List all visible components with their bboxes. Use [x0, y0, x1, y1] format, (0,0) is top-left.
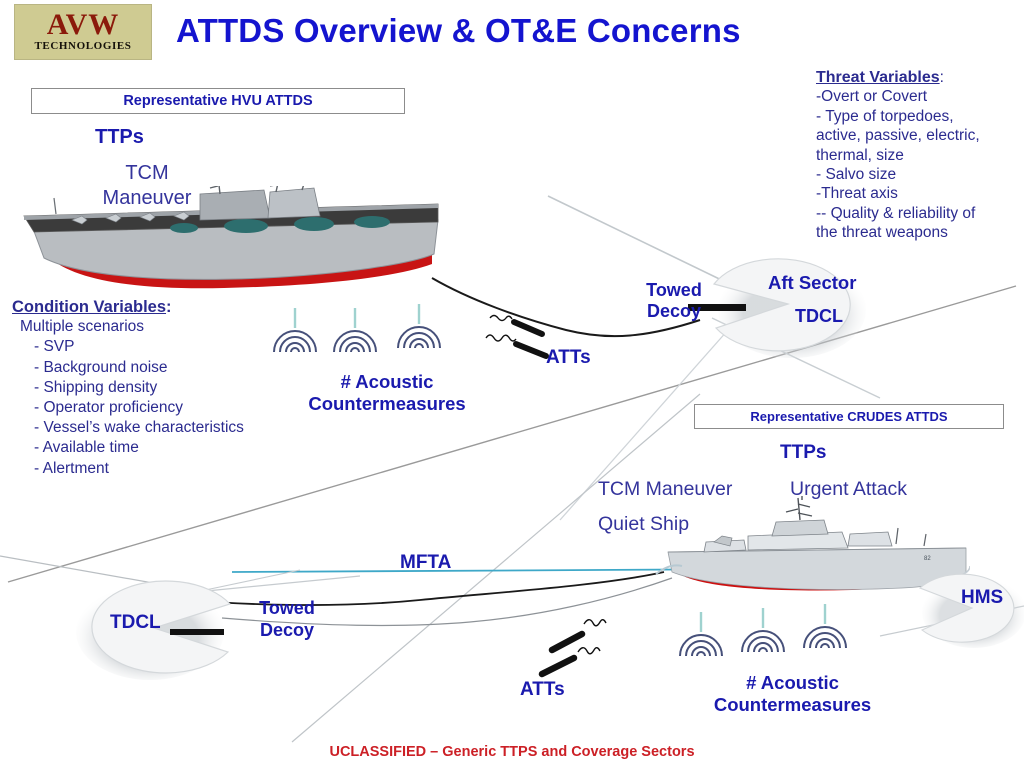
hvu-acm-line2: Countermeasures [272, 393, 502, 415]
threat-variables-item: active, passive, electric, [816, 126, 1024, 145]
condition-variables-item: - SVP [12, 337, 312, 357]
acoustic-countermeasure-icon [736, 606, 790, 658]
aft-sector-label: Aft Sector [768, 272, 856, 294]
hvu-atts-label: ATTs [546, 347, 591, 369]
hvu-towed-line2: Decoy [626, 301, 722, 322]
logo-wordmark: AVW [47, 10, 119, 40]
torpedo-icon [528, 612, 628, 682]
header-box-crudes-label: Representative CRUDES ATTDS [750, 409, 947, 424]
hvu-tcm-line2: Maneuver [92, 186, 202, 211]
crudes-atts-label: ATTs [520, 679, 565, 701]
hvu-tdcl-label: TDCL [795, 306, 843, 327]
page-title: ATTDS Overview & OT&E Concerns [176, 12, 876, 50]
condition-variables-heading: Condition Variables: [12, 297, 312, 317]
towed-decoy-marker [170, 629, 224, 635]
svg-text:82: 82 [924, 556, 931, 562]
header-box-hvu: Representative HVU ATTDS [31, 88, 405, 114]
condition-variables-subheading: Multiple scenarios [12, 317, 312, 337]
condition-variables-heading-colon: : [166, 298, 172, 316]
coverage-sector-icon [912, 566, 1024, 656]
hvu-tcm-line1: TCM [92, 161, 202, 186]
hms-label: HMS [961, 587, 1003, 609]
condition-variables-item: - Operator proficiency [12, 398, 312, 418]
condition-variables-item: - Shipping density [12, 378, 312, 398]
threat-variables-item: - Type of torpedoes, [816, 107, 1024, 126]
classification-footer: UCLASSIFIED – Generic TTPS and Coverage … [0, 744, 1024, 760]
crudes-towed-line1: Towed [237, 597, 337, 619]
crudes-towed-line2: Decoy [237, 619, 337, 641]
condition-variables-item: - Available time [12, 438, 312, 458]
acoustic-countermeasure-icon [268, 306, 322, 358]
threat-variables-item: - Salvo size [816, 165, 1024, 184]
threat-variables-item: -Overt or Covert [816, 87, 1024, 106]
condition-variables-block: Condition Variables: Multiple scenarios … [12, 297, 312, 479]
avw-logo: AVW TECHNOLOGIES [14, 4, 152, 60]
hvu-ship-icon [14, 186, 444, 294]
acoustic-countermeasure-icon [328, 306, 382, 358]
hvu-towed-line1: Towed [626, 280, 722, 301]
threat-variables-block: Threat Variables: -Overt or Covert - Typ… [816, 68, 1024, 243]
threat-variables-item: thermal, size [816, 146, 1024, 165]
condition-variables-heading-text: Condition Variables [12, 298, 166, 316]
acoustic-countermeasure-icon [674, 610, 728, 662]
logo-tagline: TECHNOLOGIES [34, 40, 131, 52]
header-box-hvu-label: Representative HVU ATTDS [123, 93, 312, 109]
mfta-label: MFTA [400, 552, 451, 574]
hvu-acoustic-countermeasures-label: # Acoustic Countermeasures [272, 371, 502, 415]
hvu-tcm-maneuver-label: TCM Maneuver [92, 161, 202, 211]
header-box-crudes: Representative CRUDES ATTDS [694, 404, 1004, 429]
crudes-ttps-label: TTPs [780, 442, 826, 464]
hvu-ttps-label: TTPs [95, 126, 144, 149]
threat-variables-heading-colon: : [940, 69, 944, 86]
crudes-acm-line2: Countermeasures [670, 694, 915, 716]
hvu-acm-line1: # Acoustic [272, 371, 502, 393]
acoustic-countermeasure-icon [798, 602, 852, 654]
crudes-tdcl-label: TDCL [110, 612, 161, 634]
slide-canvas: AVW TECHNOLOGIES ATTDS Overview & OT&E C… [0, 0, 1024, 768]
crudes-acm-line1: # Acoustic [670, 672, 915, 694]
condition-variables-item: - Alertment [12, 459, 312, 479]
threat-variables-item: -- Quality & reliability of [816, 204, 1024, 223]
crudes-towed-decoy-label: Towed Decoy [237, 597, 337, 641]
hvu-towed-decoy-label: Towed Decoy [626, 280, 722, 322]
condition-variables-item: - Vessel’s wake characteristics [12, 418, 312, 438]
threat-variables-item: the threat weapons [816, 223, 1024, 242]
acoustic-countermeasure-icon [392, 302, 446, 354]
crudes-acoustic-countermeasures-label: # Acoustic Countermeasures [670, 672, 915, 716]
threat-variables-heading-text: Threat Variables [816, 69, 940, 86]
threat-variables-heading: Threat Variables: [816, 68, 1024, 87]
threat-variables-item: -Threat axis [816, 184, 1024, 203]
condition-variables-item: - Background noise [12, 358, 312, 378]
